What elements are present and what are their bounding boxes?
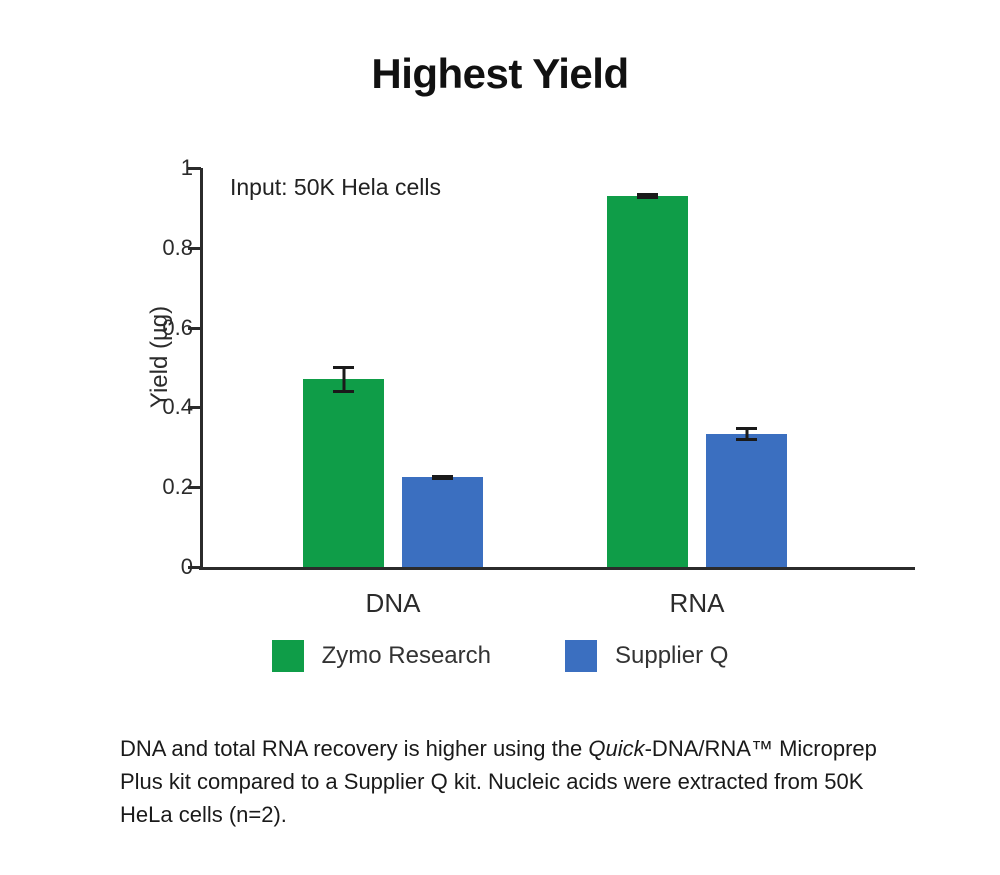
error-bar [342, 366, 345, 394]
legend-item[interactable]: Supplier Q [565, 640, 728, 672]
error-bar [646, 193, 649, 199]
y-axis-line [200, 168, 203, 567]
blue-swatch [565, 640, 597, 672]
chart-legend: Zymo ResearchSupplier Q [0, 640, 1000, 672]
error-bar [745, 427, 748, 441]
error-bar-cap-bottom [432, 477, 453, 480]
y-axis-title: Yield (µg) [146, 257, 174, 457]
bar-dna-supplier-q[interactable] [402, 477, 483, 567]
error-bar [441, 475, 444, 480]
error-bar-cap-top [333, 366, 354, 369]
y-tick-label: 0.2 [162, 474, 193, 500]
green-swatch [272, 640, 304, 672]
y-tick-label: 0.4 [162, 394, 193, 420]
legend-item[interactable]: Zymo Research [272, 640, 491, 672]
y-tick-label: 0 [181, 554, 193, 580]
plot-area: Yield (µg) 00.20.40.60.81 Input: 50K Hel… [200, 168, 915, 567]
legend-label: Zymo Research [322, 642, 491, 670]
error-bar-cap-bottom [637, 196, 658, 199]
plot-annotation: Input: 50K Hela cells [230, 174, 441, 201]
caption-text-b: -DNA/RNA™ [645, 736, 773, 761]
figure-caption: DNA and total RNA recovery is higher usi… [120, 732, 895, 831]
caption-emphasis: Quick [588, 736, 644, 761]
bar-rna-zymo-research[interactable] [607, 196, 688, 567]
caption-text-a: DNA and total RNA recovery is higher usi… [120, 736, 588, 761]
y-tick-label: 0.6 [162, 315, 193, 341]
chart-title: Highest Yield [0, 50, 1000, 98]
error-bar-cap-bottom [736, 438, 757, 441]
bar-dna-zymo-research[interactable] [303, 379, 384, 567]
bar-rna-supplier-q[interactable] [706, 434, 787, 567]
x-category-label-rna: RNA [670, 588, 725, 619]
y-tick-label: 1 [181, 155, 193, 181]
error-bar-cap-top [736, 427, 757, 430]
x-category-label-dna: DNA [366, 588, 421, 619]
legend-label: Supplier Q [615, 642, 728, 670]
figure-container: Highest Yield Yield (µg) 00.20.40.60.81 … [0, 0, 1000, 875]
error-bar-cap-bottom [333, 390, 354, 393]
y-tick-label: 0.8 [162, 235, 193, 261]
x-axis-line [199, 567, 915, 570]
